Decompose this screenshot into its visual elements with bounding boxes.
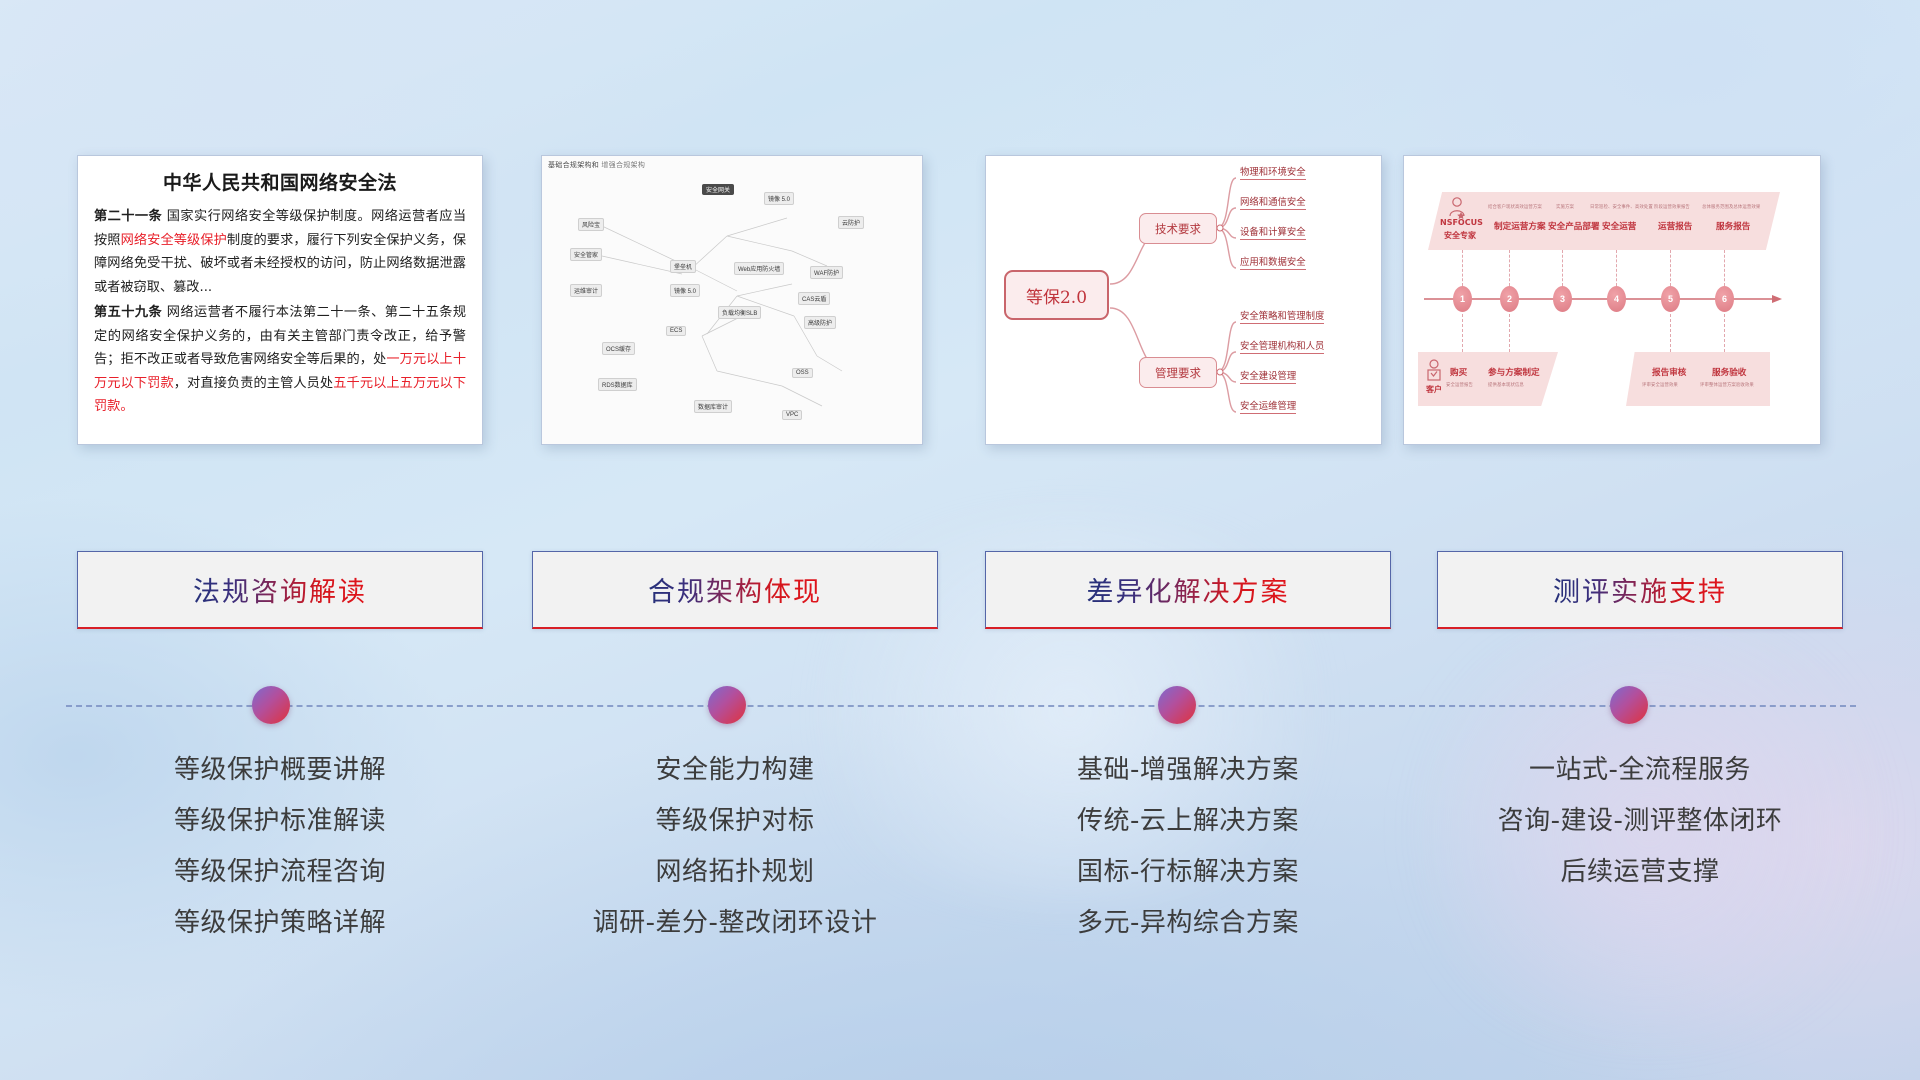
bullet-column-3: 基础-增强解决方案 传统-云上解决方案 国标-行标解决方案 多元-异构综合方案 bbox=[985, 745, 1391, 949]
title-box-regulation-consulting[interactable]: 法规咨询解读 bbox=[77, 551, 483, 629]
timeline-dashed-line bbox=[66, 705, 1856, 707]
timeline-node-4[interactable] bbox=[1610, 686, 1648, 724]
title-box-compliance-architecture[interactable]: 合规架构体现 bbox=[532, 551, 938, 629]
title-box-label-4: 测评实施支持 bbox=[1553, 570, 1727, 609]
list-item: 调研-差分-整改闭环设计 bbox=[532, 898, 938, 949]
timeline-node-1[interactable] bbox=[252, 686, 290, 724]
timeline-node-3[interactable] bbox=[1158, 686, 1196, 724]
list-item: 等级保护概要讲解 bbox=[77, 745, 483, 796]
list-item: 多元-异构综合方案 bbox=[985, 898, 1391, 949]
title-box-label-1: 法规咨询解读 bbox=[193, 570, 367, 609]
title-box-label-3: 差异化解决方案 bbox=[1087, 570, 1290, 609]
list-item: 安全能力构建 bbox=[532, 745, 938, 796]
bullet-column-2: 安全能力构建 等级保护对标 网络拓扑规划 调研-差分-整改闭环设计 bbox=[532, 745, 938, 949]
bullet-column-1: 等级保护概要讲解 等级保护标准解读 等级保护流程咨询 等级保护策略详解 bbox=[77, 745, 483, 949]
bullet-column-4: 一站式-全流程服务 咨询-建设-测评整体闭环 后续运营支撑 bbox=[1437, 745, 1843, 898]
list-item: 等级保护流程咨询 bbox=[77, 847, 483, 898]
list-item: 一站式-全流程服务 bbox=[1437, 745, 1843, 796]
list-item: 咨询-建设-测评整体闭环 bbox=[1437, 796, 1843, 847]
title-box-assessment-support[interactable]: 测评实施支持 bbox=[1437, 551, 1843, 629]
list-item: 国标-行标解决方案 bbox=[985, 847, 1391, 898]
list-item: 等级保护标准解读 bbox=[77, 796, 483, 847]
list-item: 等级保护对标 bbox=[532, 796, 938, 847]
list-item: 传统-云上解决方案 bbox=[985, 796, 1391, 847]
timeline-node-2[interactable] bbox=[708, 686, 746, 724]
list-item: 基础-增强解决方案 bbox=[985, 745, 1391, 796]
list-item: 后续运营支撑 bbox=[1437, 847, 1843, 898]
list-item: 网络拓扑规划 bbox=[532, 847, 938, 898]
title-box-label-2: 合规架构体现 bbox=[648, 570, 822, 609]
list-item: 等级保护策略详解 bbox=[77, 898, 483, 949]
title-box-differentiated-solution[interactable]: 差异化解决方案 bbox=[985, 551, 1391, 629]
